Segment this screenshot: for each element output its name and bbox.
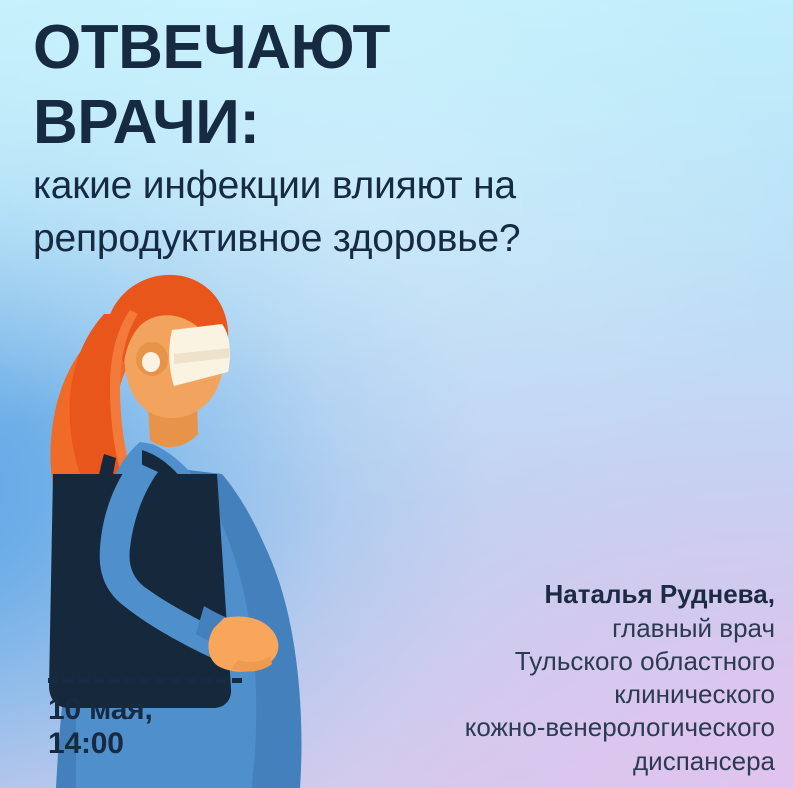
subtitle-line-2: репродуктивное здоровье? <box>33 217 753 261</box>
dashed-divider <box>48 678 242 683</box>
speaker-name: Наталья Руднева, <box>355 578 775 611</box>
title-line-1: ОТВЕЧАЮТ <box>33 18 753 79</box>
title-line-2: ВРАЧИ: <box>33 93 753 154</box>
schedule-block: 10 мая, 14:00 <box>48 678 308 760</box>
headline-block: ОТВЕЧАЮТ ВРАЧИ: какие инфекции влияют на… <box>33 18 753 261</box>
subtitle-line-1: какие инфекции влияют на <box>33 164 753 208</box>
speaker-role-line-2: Тульского областного <box>355 645 775 678</box>
speaker-role-line-1: главный врач <box>355 612 775 645</box>
event-time: 14:00 <box>48 727 308 761</box>
speaker-credit-block: Наталья Руднева, главный врач Тульского … <box>355 578 775 778</box>
speaker-role-line-4: кожно-венерологического <box>355 711 775 744</box>
earring-shape <box>142 352 160 372</box>
poster-canvas: ОТВЕЧАЮТ ВРАЧИ: какие инфекции влияют на… <box>0 0 793 788</box>
speaker-role-line-5: диспансера <box>355 745 775 778</box>
speaker-role-line-3: клинического <box>355 678 775 711</box>
event-date: 10 мая, <box>48 693 308 727</box>
